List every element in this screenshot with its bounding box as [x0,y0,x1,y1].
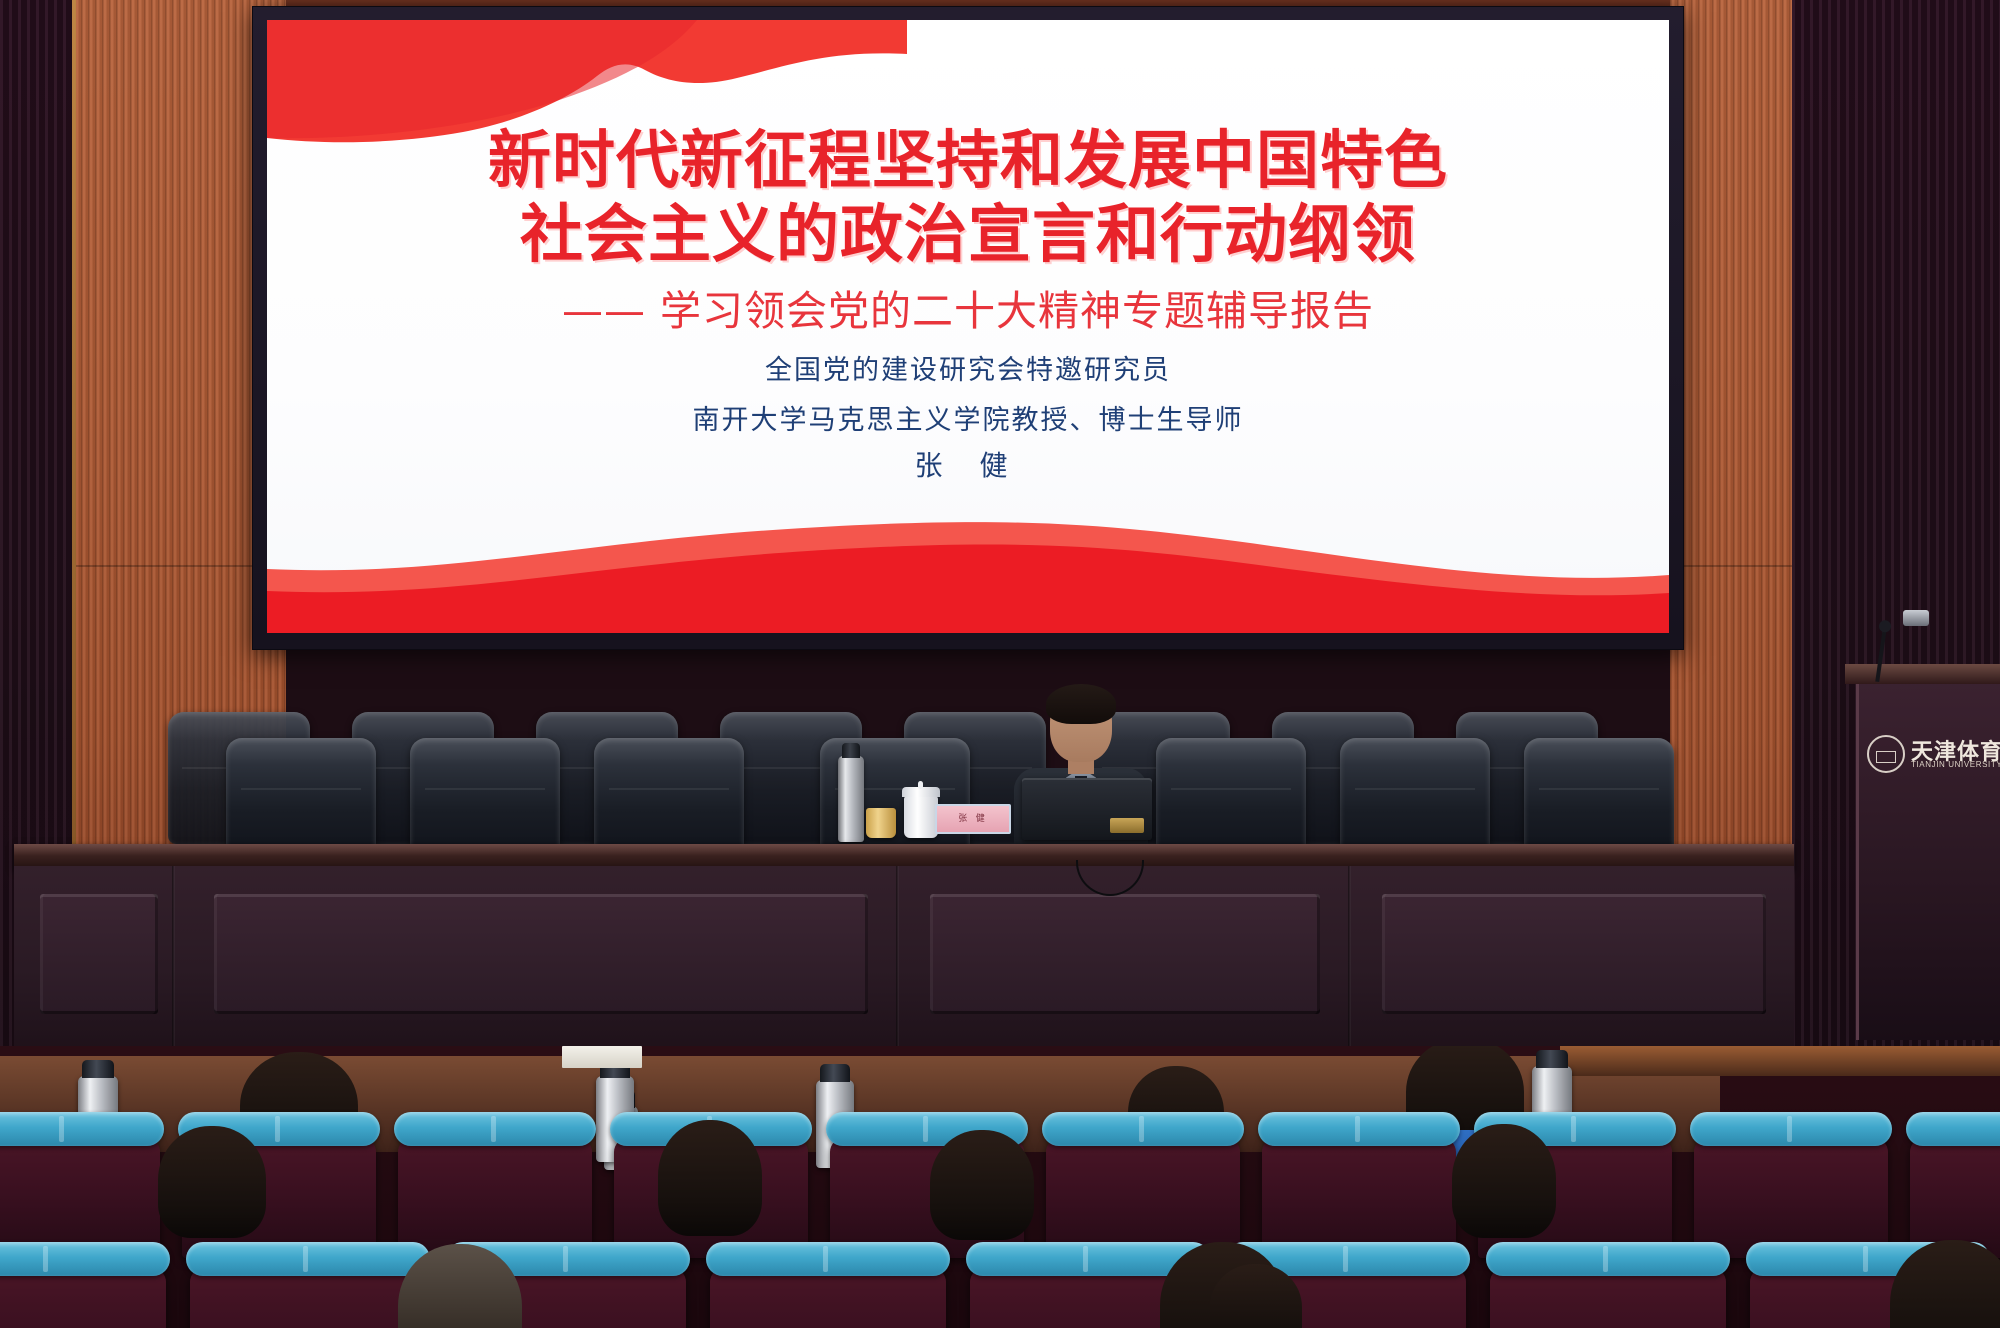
slide-credit-line1: 全国党的建设研究会特邀研究员 [267,352,1669,390]
audience-seat [0,1268,166,1328]
audience-desk-strip [1560,1046,2000,1076]
audience-seat [710,1268,946,1328]
seat-headrest [706,1242,950,1276]
audience-seat [190,1268,426,1328]
audience-seat [1262,1138,1456,1258]
curtain-edge-left [72,0,76,990]
name-placard: 张 健 [935,804,1011,834]
university-seal-icon [1867,735,1905,773]
slide-speaker-name: 张 健 [267,446,1669,486]
thermos-bottle [838,756,864,842]
tea-cup [904,796,938,838]
projection-screen: 新时代新征程坚持和发展中国特色 社会主义的政治宣言和行动纲领 —— 学习领会党的… [267,20,1669,633]
stage-chair-front [226,738,376,858]
red-wave-decoration [267,513,1669,633]
audience-head [658,1120,762,1236]
seat-headrest [394,1112,596,1146]
podium-top-surface [1845,664,2000,684]
table-panel [930,894,1320,1014]
podium-lamp [1903,610,1929,626]
audience-head [930,1130,1034,1240]
slide-title-line1: 新时代新征程坚持和发展中国特色 [267,124,1669,198]
stage-chair-front [1156,738,1306,858]
seat-headrest [0,1242,170,1276]
slide-title-line2: 社会主义的政治宣言和行动纲领 [267,198,1669,272]
audience-paper [562,1046,642,1068]
audience-seat [0,1138,160,1258]
seat-headrest [1042,1112,1244,1146]
audience-seat [1490,1268,1726,1328]
audience-head [1452,1124,1556,1238]
seat-headrest [186,1242,430,1276]
head-table-front [14,866,1794,1054]
laptop-badge [1110,818,1144,833]
name-placard-text: 张 健 [937,806,1009,830]
laptop-screen [1022,778,1152,840]
audience-seat [1694,1138,1888,1258]
audience-seat [1046,1138,1240,1258]
stage-chair-front [410,738,560,858]
institution-name-en: TIANJIN UNIVERSITY OF S [1911,760,2000,769]
slide-subtitle: —— 学习领会党的二十大精神专题辅导报告 [267,282,1669,340]
speaker-hair [1046,684,1116,724]
seat-headrest [1906,1112,2000,1146]
seat-headrest [0,1112,164,1146]
institution-logo: 天津体育学 TIANJIN UNIVERSITY OF S [1865,732,2000,778]
seat-headrest [1690,1112,1892,1146]
slide-credit-line2: 南开大学马克思主义学院教授、博士生导师 [267,402,1669,440]
stage-chair-front [594,738,744,858]
audience-seat [398,1138,592,1258]
seat-headrest [1258,1112,1460,1146]
lectern-podium: 天津体育学 TIANJIN UNIVERSITY OF S [1856,680,2000,1040]
audience-head [158,1126,266,1238]
audience-seating [0,1046,2000,1328]
stage-chair-front [1524,738,1674,858]
wall-panel-right [1670,0,1794,980]
table-panel [1382,894,1766,1014]
auditorium-photo: 新时代新征程坚持和发展中国特色 社会主义的政治宣言和行动纲领 —— 学习领会党的… [0,0,2000,1328]
projection-screen-frame: 新时代新征程坚持和发展中国特色 社会主义的政治宣言和行动纲领 —— 学习领会党的… [252,6,1684,650]
tea-cup [866,808,896,838]
table-panel [214,894,868,1014]
stage-chair-front [1340,738,1490,858]
slide-content: 新时代新征程坚持和发展中国特色 社会主义的政治宣言和行动纲领 —— 学习领会党的… [267,20,1669,486]
table-panel [40,894,158,1014]
seat-headrest [1486,1242,1730,1276]
